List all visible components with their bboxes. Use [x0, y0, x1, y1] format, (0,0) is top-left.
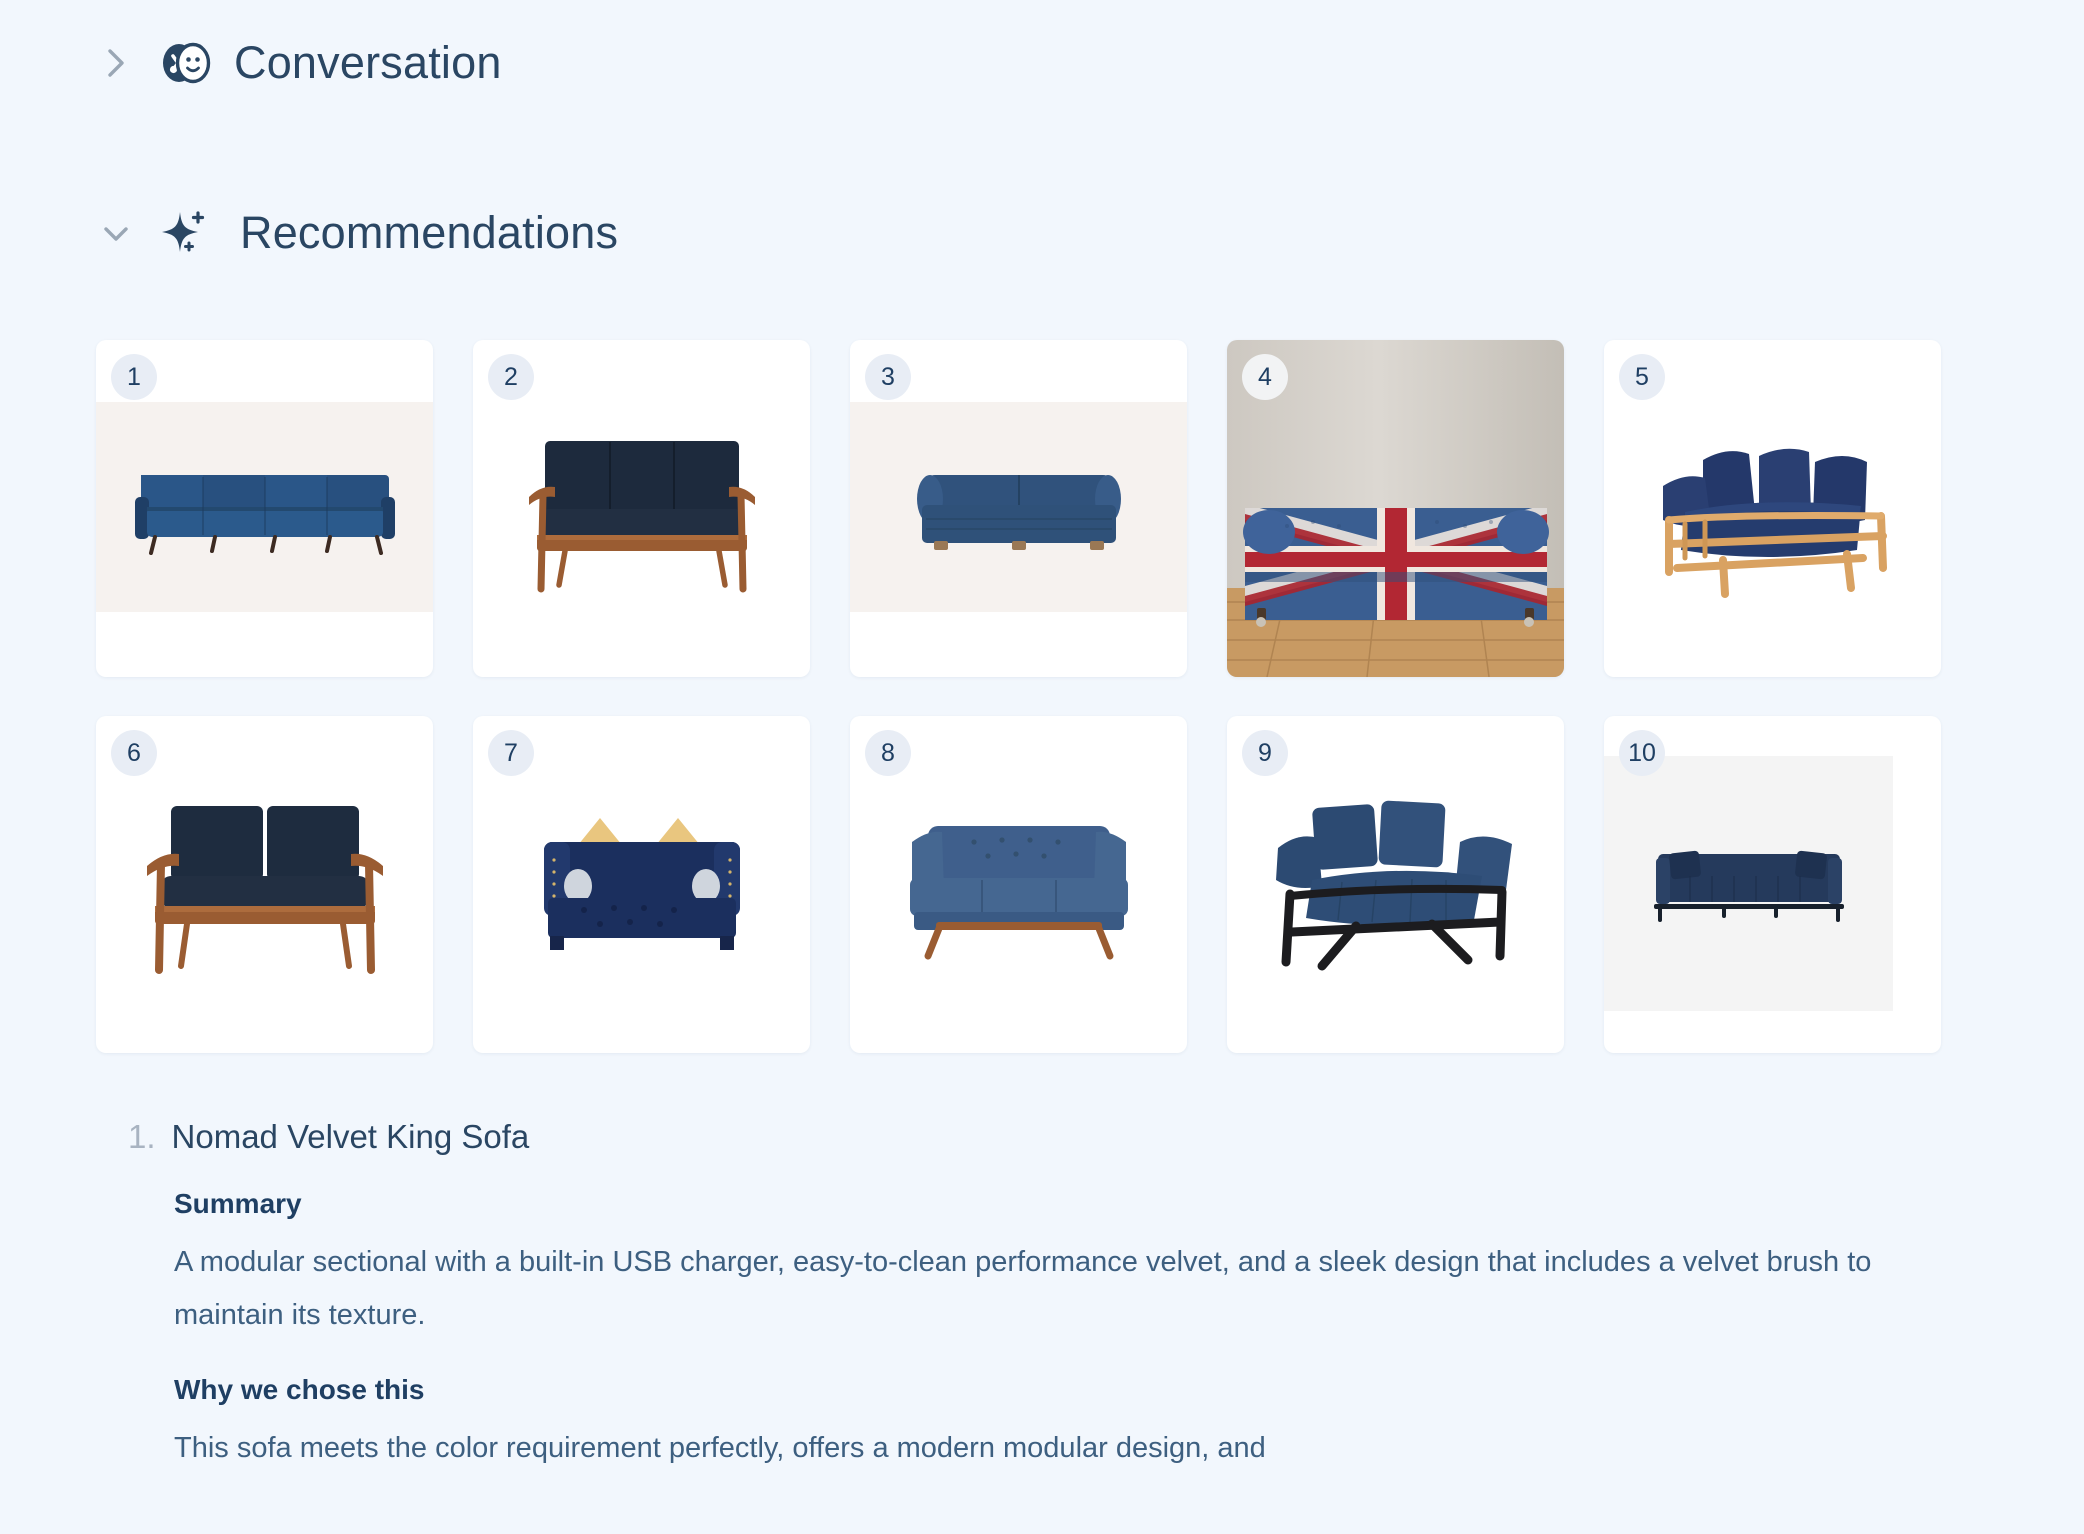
- why-chose-text: This sofa meets the color requirement pe…: [174, 1422, 1964, 1475]
- card-number-badge: 4: [1242, 354, 1288, 400]
- detail-title-row: 1. Nomad Velvet King Sofa: [128, 1118, 1978, 1156]
- navy-velvet-modular-sectional-sofa-image: [96, 402, 433, 612]
- card-number-badge: 3: [865, 354, 911, 400]
- recommendation-card[interactable]: 4: [1227, 340, 1564, 677]
- tufted-navy-loveseat-gold-pillows-image: [473, 756, 810, 1011]
- sparkle-icon: [154, 202, 216, 264]
- slim-navy-sofa-metal-legs-image: [1604, 756, 1893, 1011]
- chevron-down-icon[interactable]: [96, 213, 136, 253]
- chevron-right-icon[interactable]: [96, 43, 136, 83]
- recommendation-card[interactable]: 9: [1227, 716, 1564, 1053]
- card-number-badge: 8: [865, 730, 911, 776]
- mid-century-wood-frame-navy-sofa-image: [473, 380, 810, 635]
- conversation-avatar-icon: [154, 32, 216, 94]
- why-chose-heading: Why we chose this: [174, 1374, 1978, 1406]
- detail-body: Summary A modular sectional with a built…: [174, 1188, 1978, 1474]
- recommendation-card[interactable]: 8: [850, 716, 1187, 1053]
- recommendation-card-grid: 1: [96, 340, 1946, 1053]
- card-number-badge: 7: [488, 730, 534, 776]
- recommendation-card[interactable]: 6: [96, 716, 433, 1053]
- light-wood-futon-daybed-navy-image: [1604, 380, 1941, 635]
- recommendation-card[interactable]: 3: [850, 340, 1187, 677]
- card-number-badge: 5: [1619, 354, 1665, 400]
- detail-product-title: Nomad Velvet King Sofa: [172, 1118, 530, 1156]
- recommendation-detail: 1. Nomad Velvet King Sofa Summary A modu…: [128, 1118, 1978, 1474]
- card-number-badge: 6: [111, 730, 157, 776]
- card-number-badge: 9: [1242, 730, 1288, 776]
- summary-text: A modular sectional with a built-in USB …: [174, 1236, 1964, 1342]
- card-number-badge: 2: [488, 354, 534, 400]
- recommendation-card[interactable]: 10: [1604, 716, 1941, 1053]
- recommendation-card[interactable]: 7: [473, 716, 810, 1053]
- recommendation-card[interactable]: 5: [1604, 340, 1941, 677]
- recommendations-section-header[interactable]: Recommendations: [96, 198, 618, 268]
- walnut-frame-navy-loveseat-image: [96, 756, 433, 1011]
- detail-index: 1.: [128, 1118, 156, 1156]
- navy-convertible-futon-black-frame-image: [1227, 756, 1564, 1011]
- conversation-section-header[interactable]: Conversation: [96, 28, 502, 98]
- recommendation-card[interactable]: 2: [473, 340, 810, 677]
- recommendations-title: Recommendations: [240, 207, 618, 259]
- card-number-badge: 10: [1619, 730, 1665, 776]
- card-number-badge: 1: [111, 354, 157, 400]
- navy-slipcovered-bolster-arm-sofa-image: [850, 402, 1187, 612]
- recommendation-card[interactable]: 1: [96, 340, 433, 677]
- conversation-title: Conversation: [234, 37, 502, 89]
- recommendations-page: Conversation Recommendations 1: [0, 0, 2084, 1534]
- blue-tufted-three-seat-sofa-image: [850, 756, 1187, 1011]
- summary-heading: Summary: [174, 1188, 1978, 1220]
